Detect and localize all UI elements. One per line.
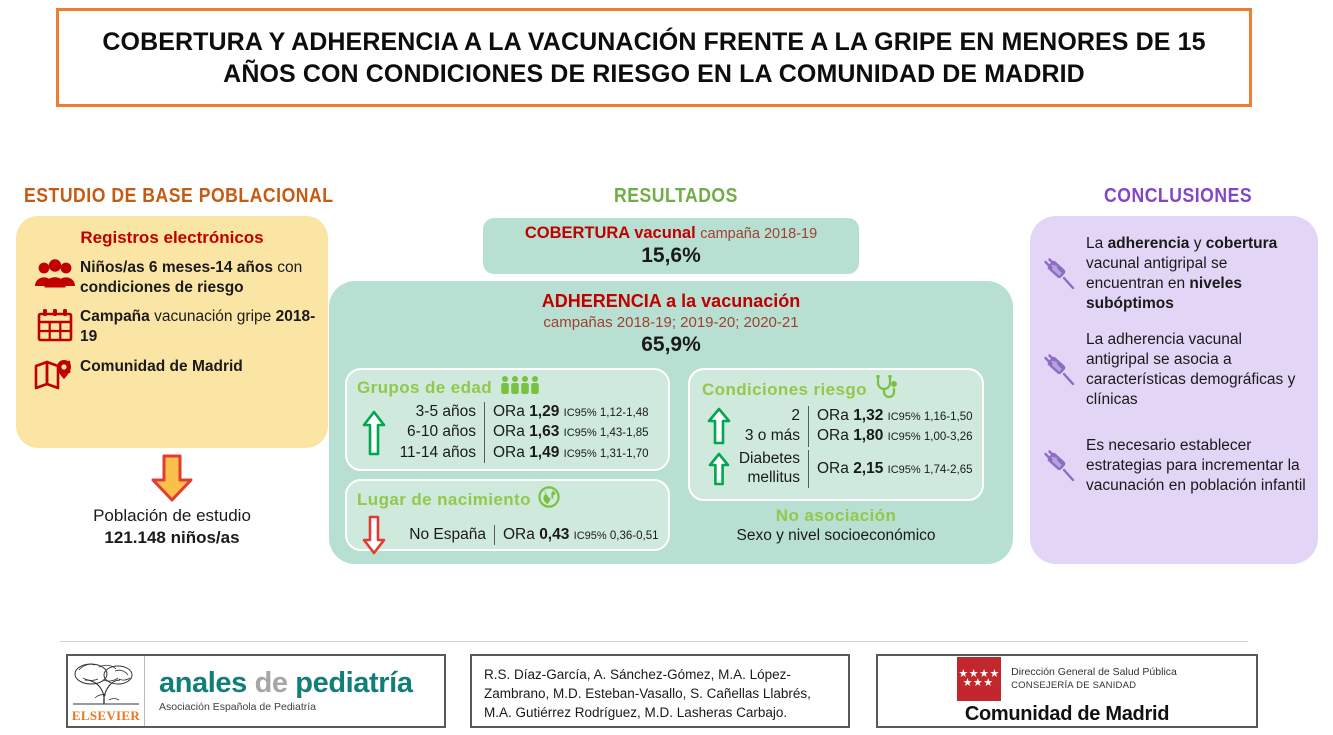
people-row-icon [499, 375, 541, 400]
card-title-label: Lugar de nacimiento [357, 490, 531, 510]
anales-subtitle: Asociación Española de Pediatría [159, 701, 413, 713]
stethoscope-icon [874, 375, 900, 404]
row-value: ORa 1,32 IC95% 1,16-1,50 [809, 406, 973, 426]
people-group-icon [30, 257, 80, 289]
row-label: No España [391, 525, 494, 545]
list-item-label: Campaña vacunación gripe 2018-19 [80, 306, 328, 346]
row-value: ORa 0,43 IC95% 0,36-0,51 [495, 525, 659, 545]
map-pin-icon [30, 356, 80, 390]
table-row: Diabetesmellitus ORa 2,15 IC95% 1,74-2,6… [736, 450, 974, 488]
institution-line3: Comunidad de Madrid [965, 703, 1169, 726]
birthplace-card: Lugar de nacimiento No España ORa 0,43 I… [345, 479, 670, 551]
age-groups-card: Grupos de edad 3-5 años ORa 1,29 IC95% [345, 368, 670, 471]
row-label: Diabetesmellitus [736, 450, 808, 488]
up-arrow-green-icon [702, 452, 736, 486]
up-arrow-green-icon [702, 407, 736, 445]
age-groups-table: 3-5 años ORa 1,29 IC95% 1,12-1,48 6-10 a… [357, 402, 660, 463]
comunidad-madrid-logo: ★★★★ ★★★ Dirección General de Salud Públ… [876, 654, 1258, 728]
card-title-label: Condiciones riesgo [702, 380, 867, 400]
authors-list: R.S. Díaz-García, A. Sánchez-Gómez, M.A.… [470, 654, 850, 728]
down-arrow-red-icon [357, 515, 391, 555]
flag-stars-bottom: ★★★ [963, 679, 994, 688]
row-value: ORa 1,29 IC95% 1,12-1,48 [485, 402, 649, 422]
birthplace-title-row: Lugar de nacimiento [357, 486, 660, 513]
madrid-flag-icon: ★★★★ ★★★ [957, 657, 1001, 701]
conclusions-panel: La adherencia y cobertura vacunal antigr… [1030, 216, 1318, 564]
adherence-heading: ADHERENCIA a la vacunación [329, 291, 1013, 312]
list-item-label: Comunidad de Madrid [80, 356, 243, 377]
conclusion-text: Es necesario establecer estrategias para… [1086, 436, 1308, 496]
syringe-icon [1034, 447, 1086, 485]
row-value: ORa 2,15 IC95% 1,74-2,65 [809, 459, 973, 479]
poster-title-box: COBERTURA Y ADHERENCIA A LA VACUNACIÓN F… [56, 8, 1252, 107]
conclusion-text: La adherencia y cobertura vacunal antigr… [1086, 234, 1308, 315]
no-association-text: Sexo y nivel socioeconómico [688, 527, 984, 545]
list-item: Niños/as 6 meses-14 años con condiciones… [30, 257, 328, 297]
page-title: COBERTURA Y ADHERENCIA A LA VACUNACIÓN F… [59, 26, 1249, 90]
table-row: No España ORa 0,43 IC95% 0,36-0,51 [391, 525, 660, 545]
adherence-campaigns: campañas 2018-19; 2019-20; 2020-21 [329, 314, 1013, 331]
table-row: 3-5 años ORa 1,29 IC95% 1,12-1,48 [391, 402, 660, 422]
risk-conditions-card: Condiciones riesgo 2 ORa 1,32 IC95% 1,16… [688, 368, 984, 501]
list-item: Es necesario establecer estrategias para… [1034, 418, 1308, 514]
row-label: 3 o más [736, 426, 808, 446]
anales-part1: anales [159, 667, 247, 699]
institution-line1: Dirección General de Salud Pública [1011, 666, 1177, 678]
list-item: La adherencia y cobertura vacunal antigr… [1034, 226, 1308, 322]
coverage-campaign: campaña 2018-19 [700, 226, 817, 242]
card-title-label: Grupos de edad [357, 378, 492, 398]
down-arrow-orange-icon [146, 452, 198, 509]
list-item: Comunidad de Madrid [30, 356, 328, 390]
elsevier-wordmark: ELSEVIER [68, 708, 144, 724]
no-association-block: No asociación Sexo y nivel socioeconómic… [688, 506, 984, 545]
adherence-label-bold: ADHERENCIA [542, 291, 661, 311]
row-value: ORa 1,80 IC95% 1,00-3,26 [809, 426, 973, 446]
section-header-estudio: ESTUDIO DE BASE POBLACIONAL [24, 185, 334, 208]
institution-line2: CONSEJERÍA DE SANIDAD [1011, 680, 1177, 691]
section-header-resultados: RESULTADOS [614, 185, 738, 208]
population-label: Población de estudio [16, 505, 328, 527]
coverage-card: COBERTURA vacunal campaña 2018-19 15,6% [483, 218, 859, 274]
risk-conditions-table: 2 ORa 1,32 IC95% 1,16-1,50 3 o más ORa 1… [702, 406, 974, 447]
birthplace-table: No España ORa 0,43 IC95% 0,36-0,51 [357, 515, 660, 555]
list-item-label: Niños/as 6 meses-14 años con condiciones… [80, 257, 328, 297]
row-label: 6-10 años [391, 422, 484, 442]
row-label: 2 [736, 406, 808, 426]
elsevier-logo: ELSEVIER [68, 656, 145, 726]
adherence-value: 65,9% [329, 333, 1013, 357]
section-header-conclusiones: CONCLUSIONES [1104, 185, 1252, 208]
syringe-icon [1034, 351, 1086, 389]
population-study-panel: Registros electrónicos Niños/as 6 meses-… [16, 216, 328, 448]
journal-logo: ELSEVIER anales de pediatría Asociación … [66, 654, 446, 728]
no-association-title: No asociación [688, 506, 984, 526]
coverage-label-rest: vacunal [630, 224, 696, 242]
risk-conditions-title-row: Condiciones riesgo [702, 375, 974, 404]
coverage-label-bold: COBERTURA [525, 224, 630, 242]
globe-icon [538, 486, 560, 513]
row-value: ORa 1,63 IC95% 1,43-1,85 [485, 422, 649, 442]
population-value: 121.148 niños/as [16, 527, 328, 549]
population-result: Población de estudio 121.148 niños/as [16, 505, 328, 549]
row-value: ORa 1,49 IC95% 1,31-1,70 [485, 443, 649, 463]
age-groups-title-row: Grupos de edad [357, 375, 660, 400]
diabetes-table: Diabetesmellitus ORa 2,15 IC95% 1,74-2,6… [702, 450, 974, 488]
registros-electronicos-title: Registros electrónicos [16, 228, 328, 248]
coverage-value: 15,6% [641, 244, 701, 267]
list-item: La adherencia vacunal antigripal se asoc… [1034, 322, 1308, 418]
anales-wordmark: anales de pediatría Asociación Española … [145, 669, 413, 713]
anales-title: anales de pediatría [159, 669, 413, 698]
up-arrow-green-icon [357, 410, 391, 456]
calendar-icon [30, 306, 80, 342]
table-row: 2 ORa 1,32 IC95% 1,16-1,50 [736, 406, 974, 426]
anales-part2: de [255, 667, 288, 699]
row-label: 11-14 años [391, 443, 484, 463]
table-row: 11-14 años ORa 1,49 IC95% 1,31-1,70 [391, 443, 660, 463]
anales-part3: pediatría [295, 667, 412, 699]
footer-divider [60, 641, 1248, 642]
coverage-heading: COBERTURA vacunal campaña 2018-19 [525, 224, 817, 243]
table-row: 3 o más ORa 1,80 IC95% 1,00-3,26 [736, 426, 974, 446]
list-item: Campaña vacunación gripe 2018-19 [30, 306, 328, 346]
conclusion-text: La adherencia vacunal antigripal se asoc… [1086, 330, 1308, 411]
row-label: 3-5 años [391, 402, 484, 422]
syringe-icon [1034, 255, 1086, 293]
table-row: 6-10 años ORa 1,63 IC95% 1,43-1,85 [391, 422, 660, 442]
adherence-label-rest: a la vacunación [661, 291, 800, 311]
